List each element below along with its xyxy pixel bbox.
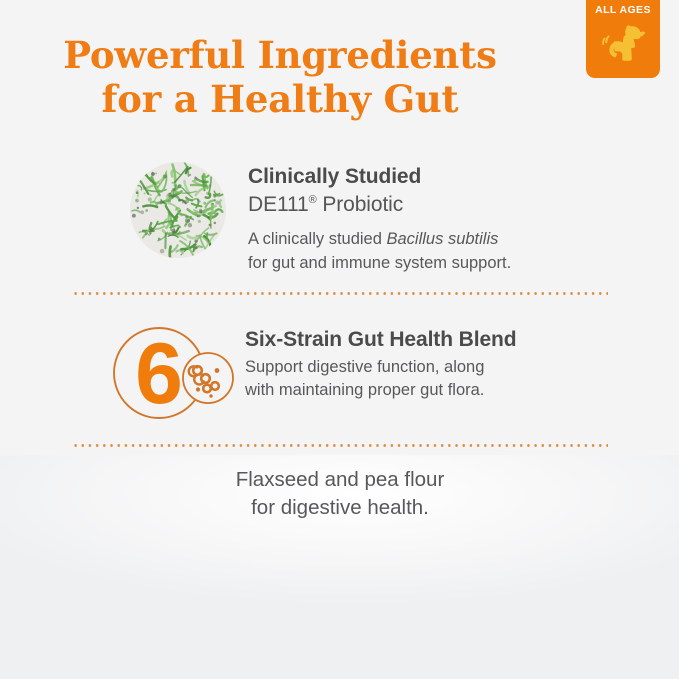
feature-1-body-pre: A clinically studied	[248, 230, 387, 248]
feature-1-text-column: Clinically Studied DE111® Probiotic A cl…	[248, 162, 511, 275]
caption-line-2: for digestive health.	[251, 496, 429, 519]
feature-six-strain-blend: 6	[105, 325, 517, 425]
feature-1-title: Clinically Studied	[248, 164, 511, 191]
divider-2	[72, 444, 608, 447]
bacteria-rods-illustration	[130, 162, 226, 258]
feature-2-body-line1: Support digestive function, along	[245, 358, 484, 376]
feature-2-body: Support digestive function, along with m…	[245, 356, 517, 403]
bottom-caption: Flaxseed and pea flour for digestive hea…	[150, 466, 530, 523]
registered-trademark-symbol: ®	[309, 194, 317, 206]
feature-1-body-line2: for gut and immune system support.	[248, 254, 511, 272]
feature-1-icon-column	[108, 162, 248, 275]
divider-1	[72, 292, 608, 295]
bacteria-microscopy-circle-icon	[130, 162, 226, 258]
page-title: Powerful Ingredients for a Healthy Gut	[0, 34, 560, 121]
caption-line-1: Flaxseed and pea flour	[236, 468, 445, 491]
feature-1-subtitle-main: DE111	[248, 193, 309, 216]
feature-1-species-name: Bacillus subtilis	[387, 230, 499, 248]
feature-clinically-studied: Clinically Studied DE111® Probiotic A cl…	[108, 162, 511, 275]
numeral-six: 6	[135, 326, 183, 422]
feature-2-icon-column: 6	[105, 325, 245, 425]
title-line-2: for a Healthy Gut	[0, 78, 560, 122]
infographic-page: ALL AGES	[0, 0, 679, 679]
six-strain-microbe-icon: 6	[111, 325, 239, 425]
feature-1-subtitle: DE111® Probiotic	[248, 191, 511, 218]
title-line-1: Powerful Ingredients	[63, 33, 497, 77]
feature-1-subtitle-rest: Probiotic	[317, 193, 404, 216]
feature-2-text-column: Six-Strain Gut Health Blend Support dige…	[245, 325, 517, 425]
six-in-circle-illustration: 6	[111, 325, 239, 425]
feature-2-body-line2: with maintaining proper gut flora.	[245, 381, 484, 399]
sitting-dog-icon	[601, 19, 645, 65]
all-ages-label: ALL AGES	[595, 5, 651, 16]
all-ages-badge: ALL AGES	[586, 0, 660, 78]
feature-2-title: Six-Strain Gut Health Blend	[245, 327, 517, 354]
feature-1-body: A clinically studied Bacillus subtilis f…	[248, 228, 511, 275]
